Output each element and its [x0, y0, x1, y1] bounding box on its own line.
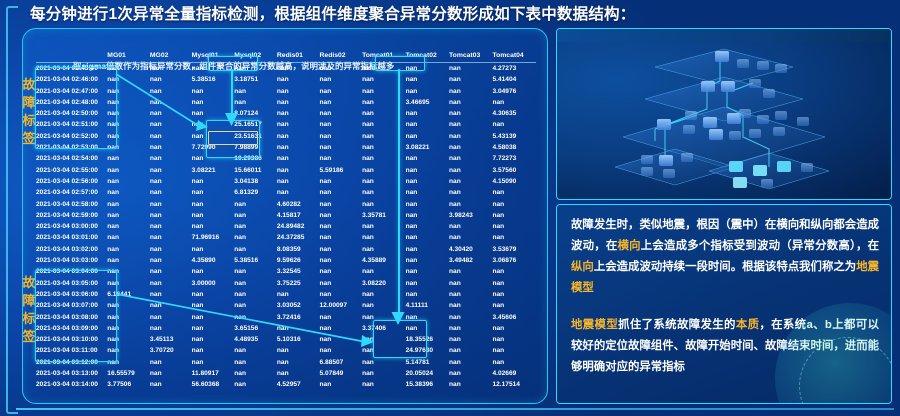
- cell-value: nan: [362, 97, 405, 108]
- table-row: 2021-03-04 03:13:0016.55579nan11.80917na…: [36, 368, 536, 379]
- cell-value: nan: [150, 221, 192, 232]
- cell-value: nan: [492, 266, 536, 277]
- cell-value: 56.60368: [192, 379, 235, 390]
- cell-value: nan: [449, 334, 492, 345]
- cell-value: nan: [277, 323, 320, 334]
- cell-timestamp: 2021-03-04 02:51:00: [36, 119, 107, 130]
- cell-value: nan: [234, 379, 277, 390]
- cell-value: nan: [150, 266, 192, 277]
- cell-value: nan: [320, 244, 363, 255]
- cell-value: nan: [406, 119, 449, 130]
- cell-value: nan: [192, 266, 235, 277]
- cell-value: nan: [107, 300, 150, 311]
- cell-value: nan: [192, 221, 235, 232]
- cell-value: nan: [234, 199, 277, 210]
- cell-timestamp: 2021-03-04 03:06:00: [36, 289, 107, 300]
- cell-value: 7.72990: [192, 142, 235, 153]
- cell-value: nan: [150, 312, 192, 323]
- cell-value: nan: [362, 165, 405, 176]
- cell-value: nan: [192, 108, 235, 119]
- cell-value: nan: [406, 153, 449, 164]
- cell-value: nan: [406, 278, 449, 289]
- cell-value: nan: [449, 63, 492, 75]
- cell-timestamp: 2021-03-04 02:47:00: [36, 86, 107, 97]
- topology-diagram-panel: [556, 28, 892, 200]
- cell-value: 3.65156: [234, 323, 277, 334]
- cell-value: nan: [362, 74, 405, 85]
- cell-value: nan: [492, 221, 536, 232]
- cell-value: nan: [150, 97, 192, 108]
- cell-value: 24.89482: [277, 221, 320, 232]
- cell-timestamp: 2021-03-04 03:07:00: [36, 300, 107, 311]
- cell-value: 3.45113: [150, 334, 192, 345]
- cell-value: 7.72273: [492, 153, 536, 164]
- cell-value: nan: [406, 199, 449, 210]
- cell-value: nan: [362, 379, 405, 390]
- table-row: 2021-03-04 02:50:00nannannan8.07124nanna…: [36, 108, 536, 119]
- cell-value: nan: [234, 97, 277, 108]
- cell-value: nan: [277, 131, 320, 142]
- cell-value: nan: [107, 210, 150, 221]
- cell-value: nan: [277, 74, 320, 85]
- cell-value: nan: [362, 345, 405, 356]
- cell-value: nan: [362, 334, 405, 345]
- cell-value: 3.18751: [234, 74, 277, 85]
- cell-value: 6.16441: [107, 289, 150, 300]
- cell-value: nan: [234, 221, 277, 232]
- paragraph-text: 上会造成波动持续一段时间。根据该特点我们称之为: [594, 261, 856, 273]
- cell-value: nan: [449, 300, 492, 311]
- cell-value: nan: [234, 210, 277, 221]
- cell-value: nan: [234, 244, 277, 255]
- cell-value: nan: [192, 119, 235, 130]
- cell-value: 3.98243: [449, 210, 492, 221]
- cell-value: 7.98899: [234, 142, 277, 153]
- cell-value: nan: [192, 131, 235, 142]
- col-header-mysql01: Mysql01: [192, 52, 235, 63]
- cell-value: 5.14781: [406, 357, 449, 368]
- cell-value: nan: [234, 232, 277, 243]
- cell-value: nan: [107, 142, 150, 153]
- cell-value: nan: [192, 300, 235, 311]
- cell-value: nan: [107, 108, 150, 119]
- cell-value: nan: [107, 345, 150, 356]
- cell-value: nan: [492, 357, 536, 368]
- cell-value: nan: [150, 142, 192, 153]
- cell-timestamp: 2021-03-04 03:05:00: [36, 278, 107, 289]
- cell-value: nan: [150, 153, 192, 164]
- explanation-panel: 故障发生时，类似地震，根因（震中）在横向和纵向都会造成波动，在横向上会造成多个指…: [556, 204, 892, 404]
- cell-timestamp: 2021-03-04 02:45:00: [36, 63, 107, 75]
- cell-value: 3.77506: [107, 379, 150, 390]
- cell-value: nan: [107, 119, 150, 130]
- cell-value: 9.59626: [277, 255, 320, 266]
- cell-value: nan: [107, 255, 150, 266]
- cell-value: nan: [449, 357, 492, 368]
- cell-value: nan: [362, 131, 405, 142]
- cell-value: nan: [107, 244, 150, 255]
- cell-timestamp: 2021-03-04 03:12:00: [36, 357, 107, 368]
- cell-value: 3.57560: [492, 165, 536, 176]
- cell-value: nan: [406, 210, 449, 221]
- cell-value: nan: [150, 108, 192, 119]
- cell-value: nan: [192, 289, 235, 300]
- cell-value: nan: [107, 97, 150, 108]
- cell-value: 3.00000: [192, 278, 235, 289]
- cell-value: nan: [320, 255, 363, 266]
- cell-value: nan: [277, 63, 320, 75]
- table-row: 2021-03-04 03:06:006.16441nannannannanna…: [36, 289, 536, 300]
- cell-value: nan: [192, 63, 235, 75]
- table-row: 2021-03-04 02:59:00nannannannan4.15817na…: [36, 210, 536, 221]
- cell-value: nan: [107, 74, 150, 85]
- cell-value: 3.53679: [492, 244, 536, 255]
- cell-value: 4.27273: [492, 63, 536, 75]
- cell-value: nan: [492, 119, 536, 130]
- table-row: 2021-03-04 03:11:00nan3.70720nannannanna…: [36, 345, 536, 356]
- cell-value: 3.46695: [406, 97, 449, 108]
- cell-value: nan: [107, 232, 150, 243]
- cell-value: nan: [320, 97, 363, 108]
- cell-value: nan: [362, 244, 405, 255]
- cell-value: nan: [406, 255, 449, 266]
- cell-value: nan: [449, 97, 492, 108]
- table-row: 2021-03-04 03:04:00nannannannan3.32545na…: [36, 266, 536, 277]
- cell-value: nan: [406, 131, 449, 142]
- cell-value: nan: [362, 357, 405, 368]
- cell-value: nan: [150, 244, 192, 255]
- cell-value: nan: [449, 153, 492, 164]
- cell-value: nan: [192, 153, 235, 164]
- cell-value: nan: [277, 142, 320, 153]
- cell-value: nan: [492, 187, 536, 198]
- table-row: 2021-03-04 03:01:00nannan71.96916nan24.3…: [36, 232, 536, 243]
- cell-value: 15.66011: [234, 165, 277, 176]
- cell-value: nan: [449, 312, 492, 323]
- cell-value: 4.11111: [406, 300, 449, 311]
- layered-network-topology-icon: [557, 37, 891, 199]
- cell-value: nan: [449, 278, 492, 289]
- cell-value: nan: [234, 289, 277, 300]
- table-row: 2021-03-04 02:51:00nannannan25.16517nann…: [36, 119, 536, 130]
- cell-value: nan: [234, 357, 277, 368]
- cell-value: nan: [320, 131, 363, 142]
- cell-value: nan: [449, 142, 492, 153]
- cell-value: nan: [362, 221, 405, 232]
- cell-value: nan: [492, 345, 536, 356]
- cell-value: nan: [449, 266, 492, 277]
- cell-value: nan: [192, 176, 235, 187]
- cell-value: nan: [107, 221, 150, 232]
- cell-value: nan: [107, 278, 150, 289]
- cell-value: 4.35890: [192, 255, 235, 266]
- cell-value: 8.08359: [277, 244, 320, 255]
- cell-value: nan: [449, 165, 492, 176]
- cell-value: 4.15817: [277, 210, 320, 221]
- table-row: 2021-03-04 03:09:00nannannan3.65156nanna…: [36, 323, 536, 334]
- cell-value: nan: [492, 232, 536, 243]
- cell-value: nan: [150, 63, 192, 75]
- cell-value: nan: [150, 255, 192, 266]
- cell-value: 4.35889: [362, 255, 405, 266]
- cell-value: nan: [320, 210, 363, 221]
- cell-value: 3.04138: [234, 176, 277, 187]
- cell-value: nan: [492, 323, 536, 334]
- cell-value: nan: [150, 300, 192, 311]
- cell-value: 8.07124: [234, 108, 277, 119]
- cell-value: nan: [150, 187, 192, 198]
- cell-value: nan: [107, 199, 150, 210]
- cell-value: 20.05024: [406, 368, 449, 379]
- cell-value: nan: [192, 86, 235, 97]
- cell-value: nan: [362, 153, 405, 164]
- cell-value: nan: [362, 63, 405, 75]
- cell-value: 3.08221: [192, 165, 235, 176]
- cell-value: nan: [406, 266, 449, 277]
- table-row: 2021-03-04 03:10:00nan3.45113nan4.489355…: [36, 334, 536, 345]
- cell-value: 24.97630: [406, 345, 449, 356]
- cell-value: nan: [150, 357, 192, 368]
- cell-value: 5.07849: [320, 368, 363, 379]
- cell-value: nan: [492, 278, 536, 289]
- cell-value: nan: [107, 312, 150, 323]
- highlighted-term: 地震模型: [571, 319, 618, 331]
- cell-value: nan: [150, 86, 192, 97]
- frame-left-accent: [6, 6, 18, 414]
- col-header-redis02: Redis02: [320, 52, 363, 63]
- cell-value: nan: [192, 345, 235, 356]
- cell-value: nan: [234, 266, 277, 277]
- cell-value: 3.35781: [362, 210, 405, 221]
- cell-value: nan: [406, 323, 449, 334]
- cell-value: nan: [406, 221, 449, 232]
- cell-value: nan: [449, 131, 492, 142]
- cell-timestamp: 2021-03-04 03:14:00: [36, 379, 107, 390]
- cell-value: 15.38396: [406, 379, 449, 390]
- cell-value: nan: [492, 210, 536, 221]
- col-header-mg01: MG01: [107, 52, 150, 63]
- cell-value: 3.08221: [406, 142, 449, 153]
- cell-value: 23.51631: [234, 131, 277, 142]
- cell-timestamp: 2021-03-04 02:54:00: [36, 153, 107, 164]
- cell-value: 4.30635: [492, 108, 536, 119]
- explanation-paragraph-1: 故障发生时，类似地震，根因（震中）在横向和纵向都会造成波动，在横向上会造成多个指…: [571, 215, 879, 299]
- cell-value: nan: [320, 142, 363, 153]
- cell-value: nan: [362, 187, 405, 198]
- cell-value: 11.80917: [192, 368, 235, 379]
- cell-value: 71.96916: [192, 232, 235, 243]
- cell-value: nan: [406, 232, 449, 243]
- cell-timestamp: 2021-03-04 03:10:00: [36, 334, 107, 345]
- cell-value: nan: [234, 63, 277, 75]
- cell-value: nan: [277, 153, 320, 164]
- col-header-timestamp: [36, 52, 107, 63]
- cell-value: nan: [449, 199, 492, 210]
- cell-value: 4.30420: [449, 244, 492, 255]
- cell-value: nan: [234, 278, 277, 289]
- cell-value: nan: [406, 74, 449, 85]
- cell-timestamp: 2021-03-04 02:46:00: [36, 74, 107, 85]
- cell-value: nan: [492, 289, 536, 300]
- cell-value: nan: [449, 119, 492, 130]
- cell-value: nan: [150, 165, 192, 176]
- cell-value: 3.37406: [362, 323, 405, 334]
- cell-value: nan: [277, 108, 320, 119]
- cell-value: nan: [107, 153, 150, 164]
- cell-value: nan: [362, 119, 405, 130]
- cell-value: nan: [449, 345, 492, 356]
- highlighted-term: 横向: [618, 240, 641, 252]
- cell-value: nan: [320, 312, 363, 323]
- cell-value: nan: [320, 345, 363, 356]
- cell-value: nan: [150, 232, 192, 243]
- cell-value: nan: [492, 199, 536, 210]
- cell-value: 5.43139: [492, 131, 536, 142]
- cell-value: nan: [449, 176, 492, 187]
- cell-value: nan: [362, 312, 405, 323]
- cell-timestamp: 2021-03-04 02:48:00: [36, 97, 107, 108]
- cell-value: 3.70720: [150, 345, 192, 356]
- cell-value: nan: [406, 312, 449, 323]
- cell-value: nan: [362, 232, 405, 243]
- paragraph-text: 抓住了系统故障发生的: [618, 319, 736, 331]
- cell-value: nan: [320, 232, 363, 243]
- cell-value: 16.55579: [107, 368, 150, 379]
- table-row: 2021-03-04 02:57:00nannannan6.81329nanna…: [36, 187, 536, 198]
- cell-value: 5.38516: [234, 255, 277, 266]
- cell-timestamp: 2021-03-04 03:11:00: [36, 345, 107, 356]
- cell-value: nan: [277, 97, 320, 108]
- cell-timestamp: 2021-03-04 03:04:00: [36, 266, 107, 277]
- cell-value: nan: [192, 187, 235, 198]
- cell-value: 3.32545: [277, 266, 320, 277]
- highlighted-term: 本质: [736, 319, 760, 331]
- cell-value: nan: [150, 379, 192, 390]
- cell-timestamp: 2021-03-04 03:13:00: [36, 368, 107, 379]
- cell-value: nan: [107, 176, 150, 187]
- cell-value: 3.06876: [492, 255, 536, 266]
- metrics-table-wrap: MG01MG02Mysql01Mysql02Redis01Redis02Tomc…: [36, 52, 536, 391]
- cell-value: nan: [234, 345, 277, 356]
- cell-value: nan: [320, 221, 363, 232]
- cell-value: nan: [107, 357, 150, 368]
- table-row: 2021-03-04 02:58:00nannannannan4.60282na…: [36, 199, 536, 210]
- cell-value: nan: [277, 289, 320, 300]
- cell-value: nan: [150, 199, 192, 210]
- cell-value: 5.59186: [320, 165, 363, 176]
- cell-value: nan: [492, 300, 536, 311]
- cell-value: nan: [277, 368, 320, 379]
- cell-value: 3.45606: [492, 312, 536, 323]
- cell-value: nan: [362, 289, 405, 300]
- cell-value: nan: [192, 199, 235, 210]
- cell-value: nan: [277, 357, 320, 368]
- cell-timestamp: 2021-03-04 02:57:00: [36, 187, 107, 198]
- cell-value: nan: [277, 165, 320, 176]
- cell-value: nan: [449, 86, 492, 97]
- cell-value: 6.81329: [234, 187, 277, 198]
- cell-value: nan: [449, 368, 492, 379]
- table-row: 2021-03-04 02:46:00nannan5.385163.18751n…: [36, 74, 536, 85]
- cell-value: nan: [320, 74, 363, 85]
- cell-value: nan: [406, 63, 449, 75]
- cell-value: nan: [107, 266, 150, 277]
- cell-value: nan: [362, 108, 405, 119]
- cell-value: 4.52957: [277, 379, 320, 390]
- cell-timestamp: 2021-03-04 02:55:00: [36, 165, 107, 176]
- paragraph-text: 上会造成多个指标受到波动（异常分数高），在: [641, 240, 879, 252]
- cell-timestamp: 2021-03-04 03:01:00: [36, 232, 107, 243]
- cell-value: nan: [192, 210, 235, 221]
- cell-value: nan: [234, 368, 277, 379]
- table-row: 2021-03-04 03:03:00nannan4.358905.385169…: [36, 255, 536, 266]
- cell-value: 24.37285: [277, 232, 320, 243]
- cell-value: 3.49482: [449, 255, 492, 266]
- cell-value: 3.03052: [277, 300, 320, 311]
- col-header-tomcat01: Tomcat01: [362, 52, 405, 63]
- cell-value: nan: [277, 345, 320, 356]
- cell-value: nan: [320, 334, 363, 345]
- cell-value: nan: [234, 300, 277, 311]
- cell-value: 5.10316: [277, 334, 320, 345]
- cell-value: 3.72416: [277, 312, 320, 323]
- cell-value: nan: [192, 323, 235, 334]
- cell-value: nan: [320, 119, 363, 130]
- cell-timestamp: 2021-03-04 03:02:00: [36, 244, 107, 255]
- cell-value: nan: [320, 379, 363, 390]
- cell-value: nan: [449, 108, 492, 119]
- cell-value: nan: [492, 334, 536, 345]
- cell-value: nan: [150, 278, 192, 289]
- cell-value: nan: [277, 176, 320, 187]
- cell-value: nan: [192, 312, 235, 323]
- cell-value: nan: [362, 142, 405, 153]
- cell-value: nan: [492, 97, 536, 108]
- cell-value: nan: [320, 266, 363, 277]
- cell-value: 4.48935: [234, 334, 277, 345]
- cell-value: nan: [406, 86, 449, 97]
- cell-value: 4.02669: [492, 368, 536, 379]
- cell-value: nan: [150, 119, 192, 130]
- cell-value: 4.15090: [492, 176, 536, 187]
- cell-value: nan: [234, 86, 277, 97]
- cell-value: nan: [449, 379, 492, 390]
- cell-value: nan: [277, 119, 320, 130]
- table-row: 2021-03-04 02:56:00nannannan3.04138nanna…: [36, 176, 536, 187]
- cell-value: nan: [107, 131, 150, 142]
- table-row: 2021-03-04 03:05:00nannan3.00000nan3.752…: [36, 278, 536, 289]
- cell-value: 6.88507: [320, 357, 363, 368]
- table-row: 2021-03-04 02:45:00nannannannannannannan…: [36, 63, 536, 75]
- table-row: 2021-03-04 02:53:00nannan7.729907.98899n…: [36, 142, 536, 153]
- slide-root: 每分钟进行1次异常全量指标检测，根据组件维度聚合异常分数形成如下表中数据结构： …: [0, 0, 900, 416]
- cell-timestamp: 2021-03-04 03:09:00: [36, 323, 107, 334]
- cell-value: nan: [320, 86, 363, 97]
- cell-value: 10.29386: [234, 153, 277, 164]
- cell-value: 3.08220: [362, 278, 405, 289]
- cell-value: nan: [320, 176, 363, 187]
- cell-timestamp: 2021-03-04 02:56:00: [36, 176, 107, 187]
- table-row: 2021-03-04 02:47:00nannannannannannannan…: [36, 86, 536, 97]
- cell-value: nan: [406, 176, 449, 187]
- cell-value: nan: [234, 312, 277, 323]
- col-header-tomcat02: Tomcat02: [406, 52, 449, 63]
- cell-value: nan: [320, 187, 363, 198]
- cell-value: nan: [277, 187, 320, 198]
- cell-value: nan: [406, 187, 449, 198]
- cell-timestamp: 2021-03-04 03:08:00: [36, 312, 107, 323]
- table-row: 2021-03-04 02:48:00nannannannannannannan…: [36, 97, 536, 108]
